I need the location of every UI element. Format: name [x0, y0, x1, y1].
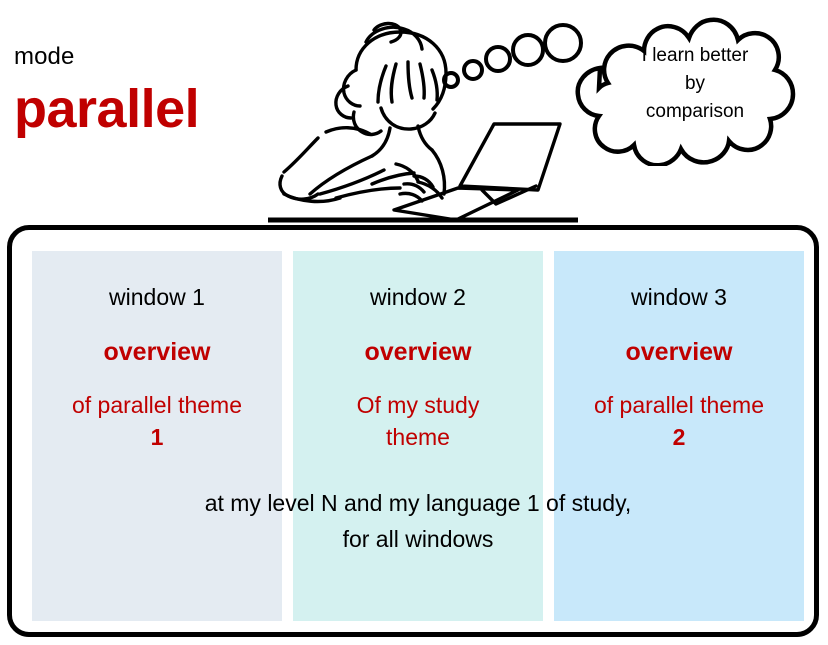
- window-panel-2-overview: overview: [293, 340, 543, 365]
- window-panel-2[interactable]: window 2 overview Of my study theme: [293, 251, 543, 621]
- window-panel-3-title: window 3: [554, 286, 804, 309]
- footer-note-line-1: at my level N and my language 1 of study…: [32, 485, 804, 521]
- thought-line-2: by: [600, 70, 790, 98]
- footer-note-line-2: for all windows: [32, 521, 804, 557]
- footer-note: at my level N and my language 1 of study…: [32, 485, 804, 557]
- window-panel-1-overview: overview: [32, 340, 282, 365]
- window-panel-2-number: theme: [386, 424, 450, 450]
- mode-label: mode: [14, 45, 74, 69]
- thought-line-3: comparison: [600, 98, 790, 126]
- header-area: mode parallel: [0, 0, 828, 225]
- window-panel-1-title: window 1: [32, 286, 282, 309]
- parallel-windows-frame: window 1 overview of parallel theme 1 wi…: [7, 225, 819, 637]
- window-panel-2-title: window 2: [293, 286, 543, 309]
- window-panel-1[interactable]: window 1 overview of parallel theme 1: [32, 251, 282, 621]
- window-panel-3-number: 2: [673, 424, 686, 450]
- window-panel-2-subtitle: Of my study theme: [293, 389, 543, 453]
- window-panel-3-subtitle: of parallel theme 2: [554, 389, 804, 453]
- window-panel-3[interactable]: window 3 overview of parallel theme 2: [554, 251, 804, 621]
- window-panel-3-overview: overview: [554, 340, 804, 365]
- window-panels-row: window 1 overview of parallel theme 1 wi…: [32, 251, 804, 621]
- window-panel-1-subtitle: of parallel theme 1: [32, 389, 282, 453]
- mode-value: parallel: [14, 82, 199, 136]
- window-panel-3-subtitle-text: of parallel theme: [594, 392, 764, 418]
- thought-bubble-text: I learn better by comparison: [600, 42, 790, 126]
- window-panel-1-number: 1: [151, 424, 164, 450]
- window-panel-2-subtitle-text: Of my study: [357, 392, 480, 418]
- window-panel-1-subtitle-text: of parallel theme: [72, 392, 242, 418]
- thought-line-1: I learn better: [600, 42, 790, 70]
